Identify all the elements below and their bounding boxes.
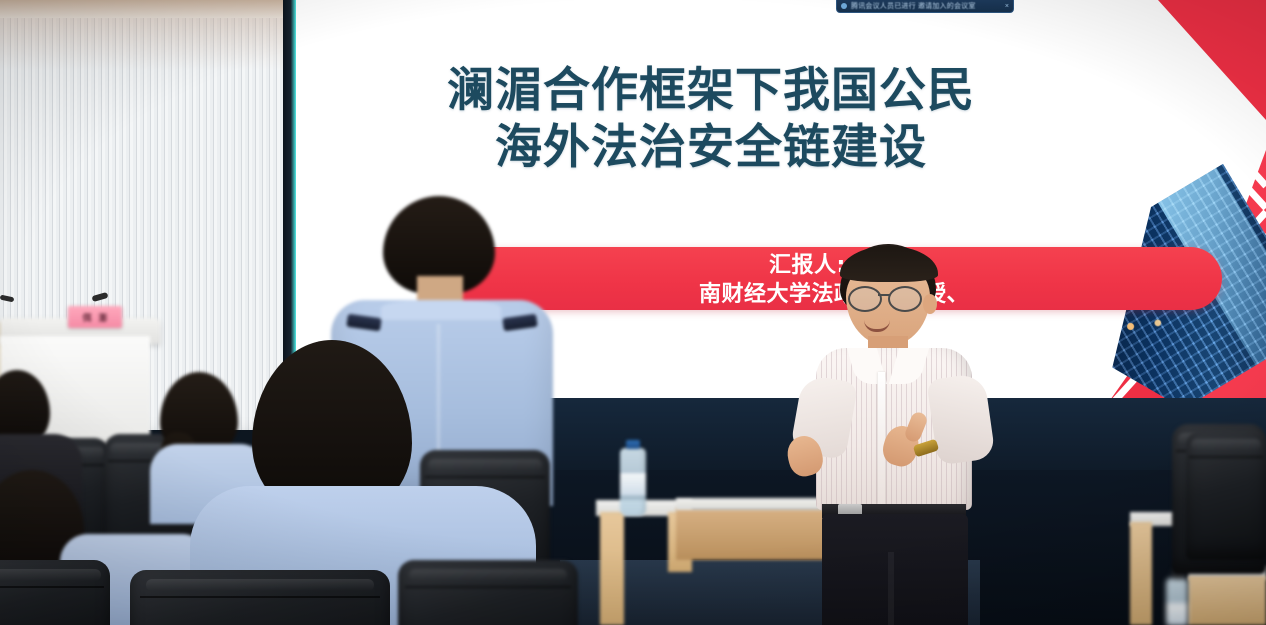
table-front-right-2 <box>1188 576 1266 625</box>
water-bottle-right[interactable] <box>1166 578 1188 625</box>
close-icon[interactable]: × <box>1005 3 1009 10</box>
eyeglasses-icon <box>844 286 936 310</box>
ceiling-edge <box>0 0 305 18</box>
speaker-shirt-placket <box>878 372 885 504</box>
podium-nameplate: 佴 澎 <box>68 306 122 328</box>
table-front-center <box>600 512 624 625</box>
lens-right <box>888 286 922 312</box>
bottle-label-right <box>1166 602 1188 625</box>
nameplate-char-2: 澎 <box>99 311 108 324</box>
slide-title-line-1: 澜湄合作框架下我国公民 <box>447 63 975 118</box>
officer-collar <box>381 300 501 320</box>
chair-front-left[interactable] <box>0 560 110 625</box>
table-front-right <box>1130 522 1152 625</box>
slide-title-line-2: 海外法治安全链建设 <box>296 119 1126 176</box>
lens-left <box>848 286 882 312</box>
chair-right-front[interactable] <box>1186 430 1266 560</box>
chair-front-center[interactable] <box>130 570 390 625</box>
chair-front-right[interactable] <box>398 560 578 625</box>
speaker-presenter <box>760 236 1022 625</box>
bottle-cap <box>626 440 640 449</box>
info-icon <box>841 3 847 9</box>
photo-scene: 澜湄合作框架下我国公民 海外法治安全链建设 汇报人: 佴澎 南财经大学法政学院教… <box>0 0 1266 625</box>
speaker-hair-front <box>840 246 938 282</box>
speaker-trousers <box>822 514 968 625</box>
slide-title: 澜湄合作框架下我国公民 海外法治安全链建设 <box>296 62 1126 177</box>
meeting-notification-bar[interactable]: 腾讯会议人员已进行 邀请加入的会议室 × <box>836 0 1014 13</box>
bottle-label <box>620 472 646 496</box>
nameplate-char-1: 佴 <box>82 311 91 324</box>
notification-text: 腾讯会议人员已进行 邀请加入的会议室 <box>851 1 1001 11</box>
glasses-bridge <box>878 294 890 296</box>
water-bottle-center[interactable] <box>620 448 646 516</box>
speaker-arm-right <box>926 372 995 465</box>
